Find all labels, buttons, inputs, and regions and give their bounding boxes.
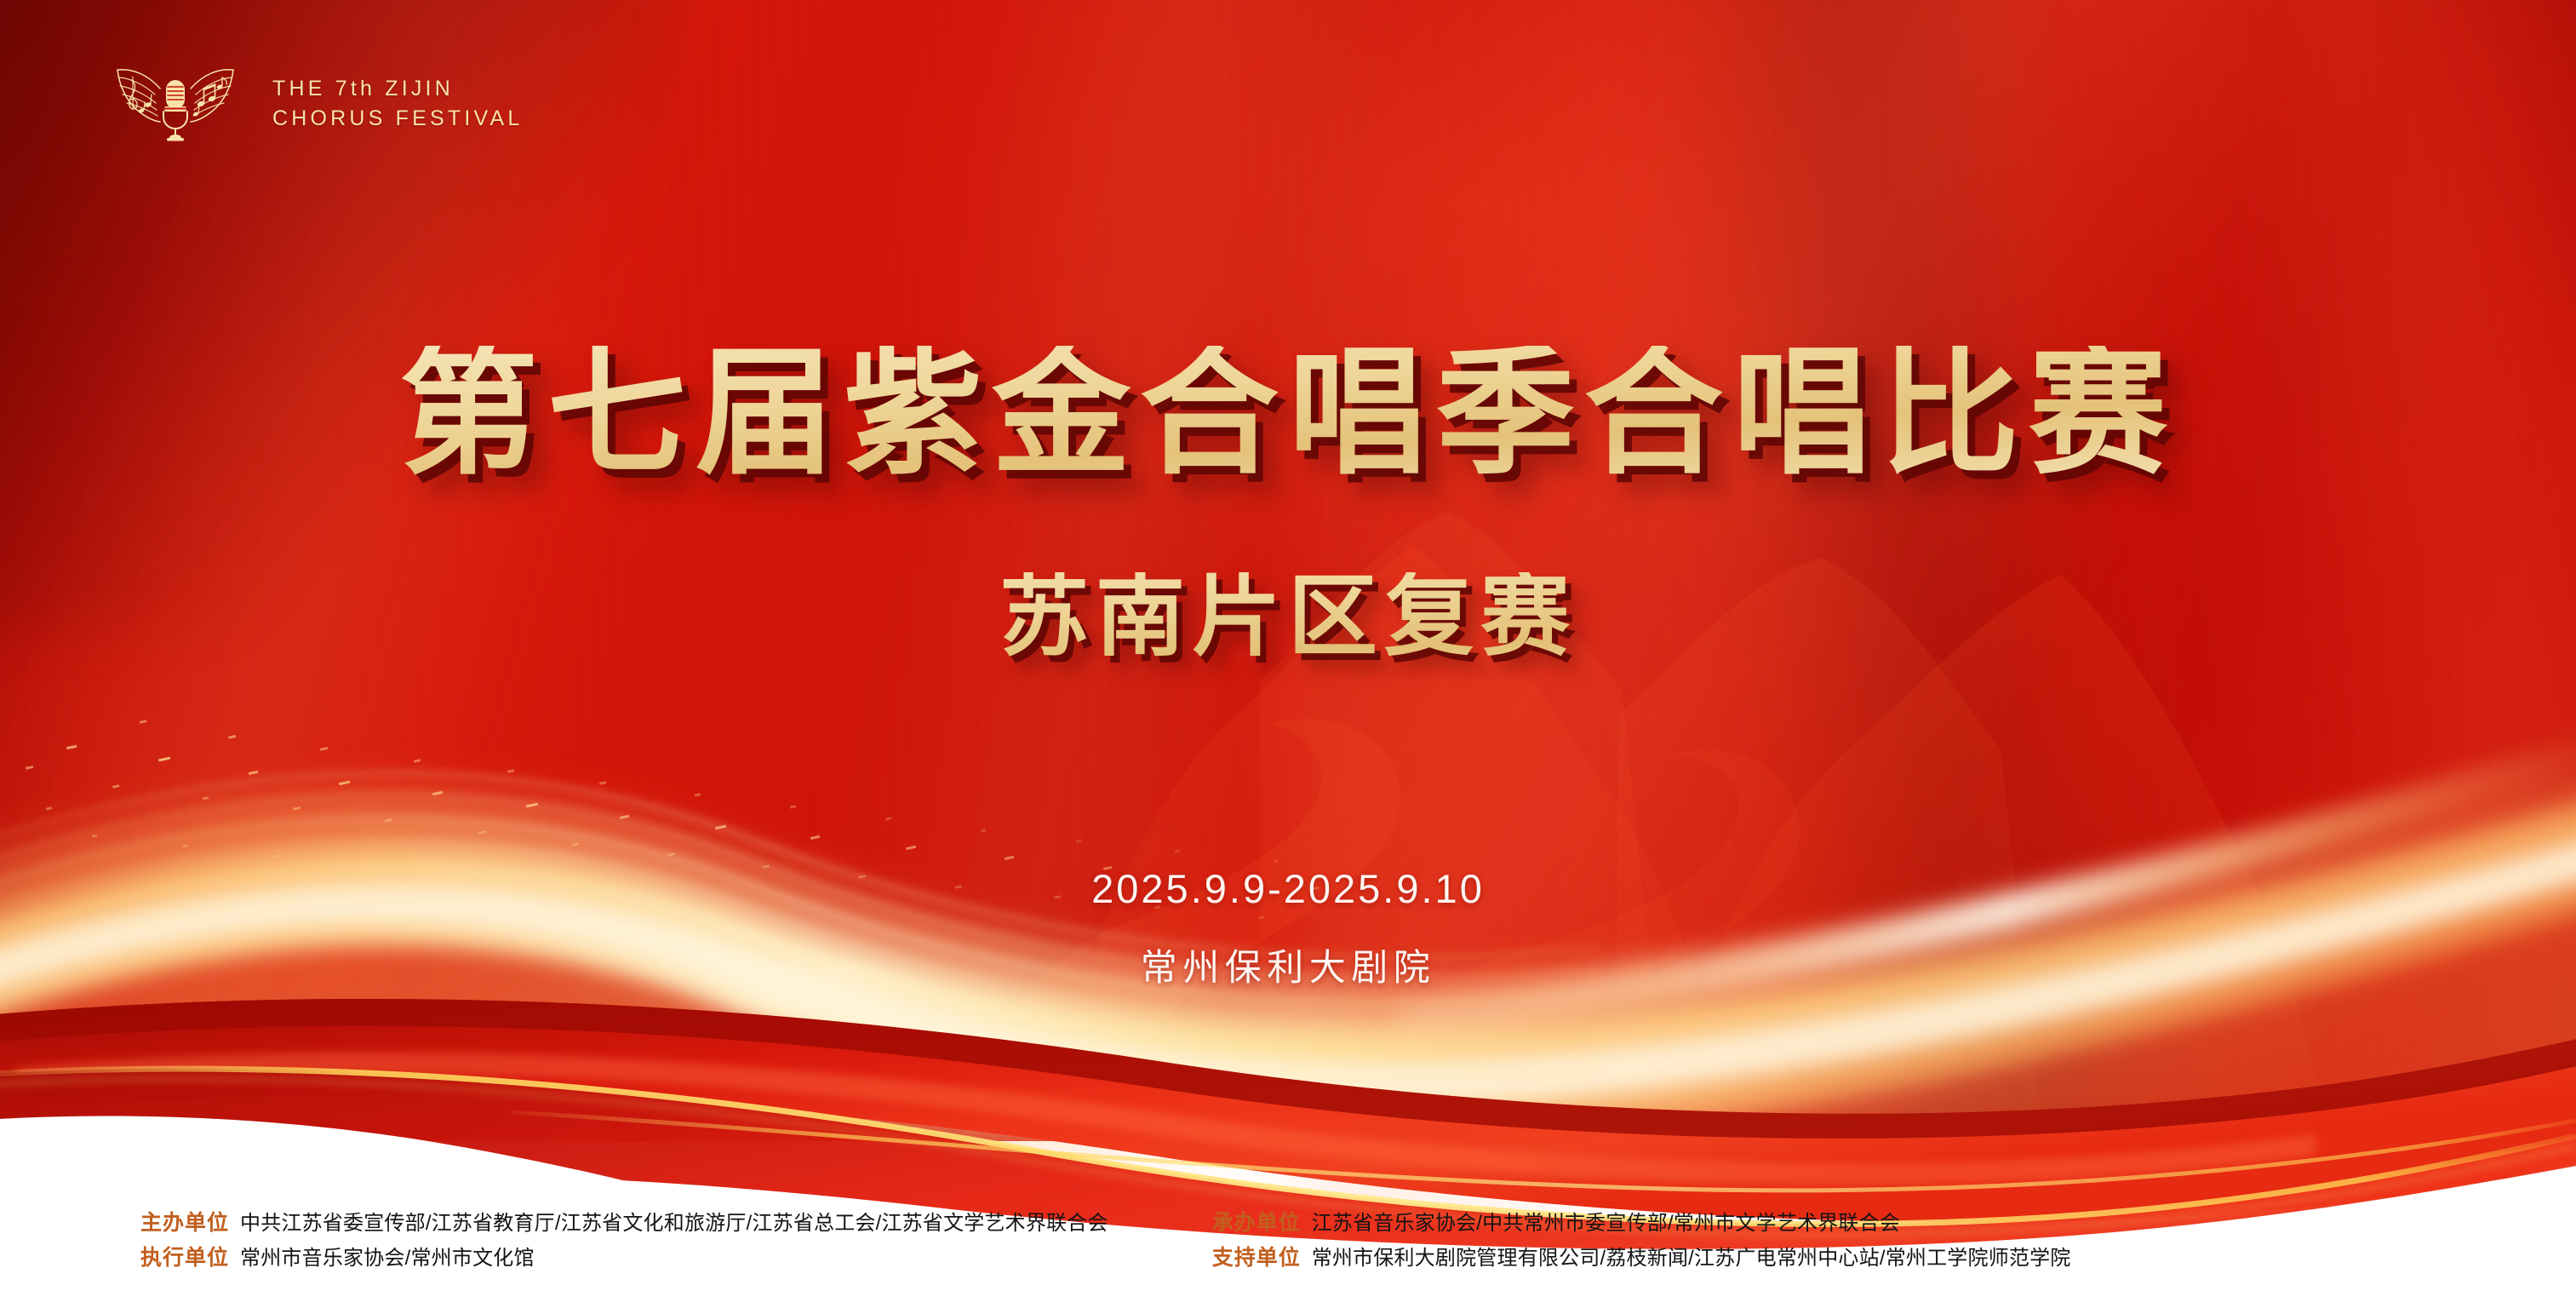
credit-row: 执行单位 常州市音乐家协会/常州市文化馆	[140, 1241, 1108, 1271]
logo-text-line2: CHORUS FESTIVAL	[272, 104, 524, 135]
page-title: 第七届紫金合唱季合唱比赛	[0, 346, 2576, 485]
credit-row: 支持单位 常州市保利大剧院管理有限公司/荔枝新闻/江苏广电常州中心站/常州工学院…	[1212, 1241, 2071, 1271]
credit-label: 执行单位	[140, 1241, 229, 1271]
logo-text-line1: THE 7th ZIJIN	[272, 74, 524, 105]
credit-value: 常州市音乐家协会/常州市文化馆	[240, 1241, 535, 1271]
page-subtitle: 苏南片区复赛	[0, 572, 2576, 662]
footer-credits: 主办单位 中共江苏省委宣传部/江苏省教育厅/江苏省文化和旅游厅/江苏省总工会/江…	[0, 1206, 2576, 1291]
credit-row: 主办单位 中共江苏省委宣传部/江苏省教育厅/江苏省文化和旅游厅/江苏省总工会/江…	[140, 1206, 1108, 1236]
credit-label: 支持单位	[1212, 1241, 1301, 1271]
event-poster: THE 7th ZIJIN CHORUS FESTIVAL 第七届紫金合唱季合唱…	[0, 0, 2576, 1291]
credit-label: 承办单位	[1212, 1206, 1301, 1236]
footer-column-left: 主办单位 中共江苏省委宣传部/江苏省教育厅/江苏省文化和旅游厅/江苏省总工会/江…	[140, 1206, 1108, 1271]
credit-row: 承办单位 江苏省音乐家协会/中共常州市委宣传部/常州市文学艺术界联合会	[1212, 1206, 2071, 1236]
credit-value: 江苏省音乐家协会/中共常州市委宣传部/常州市文学艺术界联合会	[1312, 1206, 1900, 1236]
credit-label: 主办单位	[140, 1206, 229, 1236]
credit-value: 中共江苏省委宣传部/江苏省教育厅/江苏省文化和旅游厅/江苏省总工会/江苏省文学艺…	[240, 1206, 1108, 1236]
winged-microphone-icon	[100, 63, 250, 145]
credit-value: 常州市保利大剧院管理有限公司/荔枝新闻/江苏广电常州中心站/常州工学院师范学院	[1312, 1241, 2071, 1271]
festival-logo-text: THE 7th ZIJIN CHORUS FESTIVAL	[272, 74, 524, 135]
footer-column-right: 承办单位 江苏省音乐家协会/中共常州市委宣传部/常州市文学艺术界联合会 支持单位…	[1212, 1206, 2071, 1271]
event-date: 2025.9.9-2025.9.10	[0, 865, 2576, 912]
event-venue: 常州保利大剧院	[0, 938, 2576, 991]
festival-logo: THE 7th ZIJIN CHORUS FESTIVAL	[100, 63, 524, 145]
